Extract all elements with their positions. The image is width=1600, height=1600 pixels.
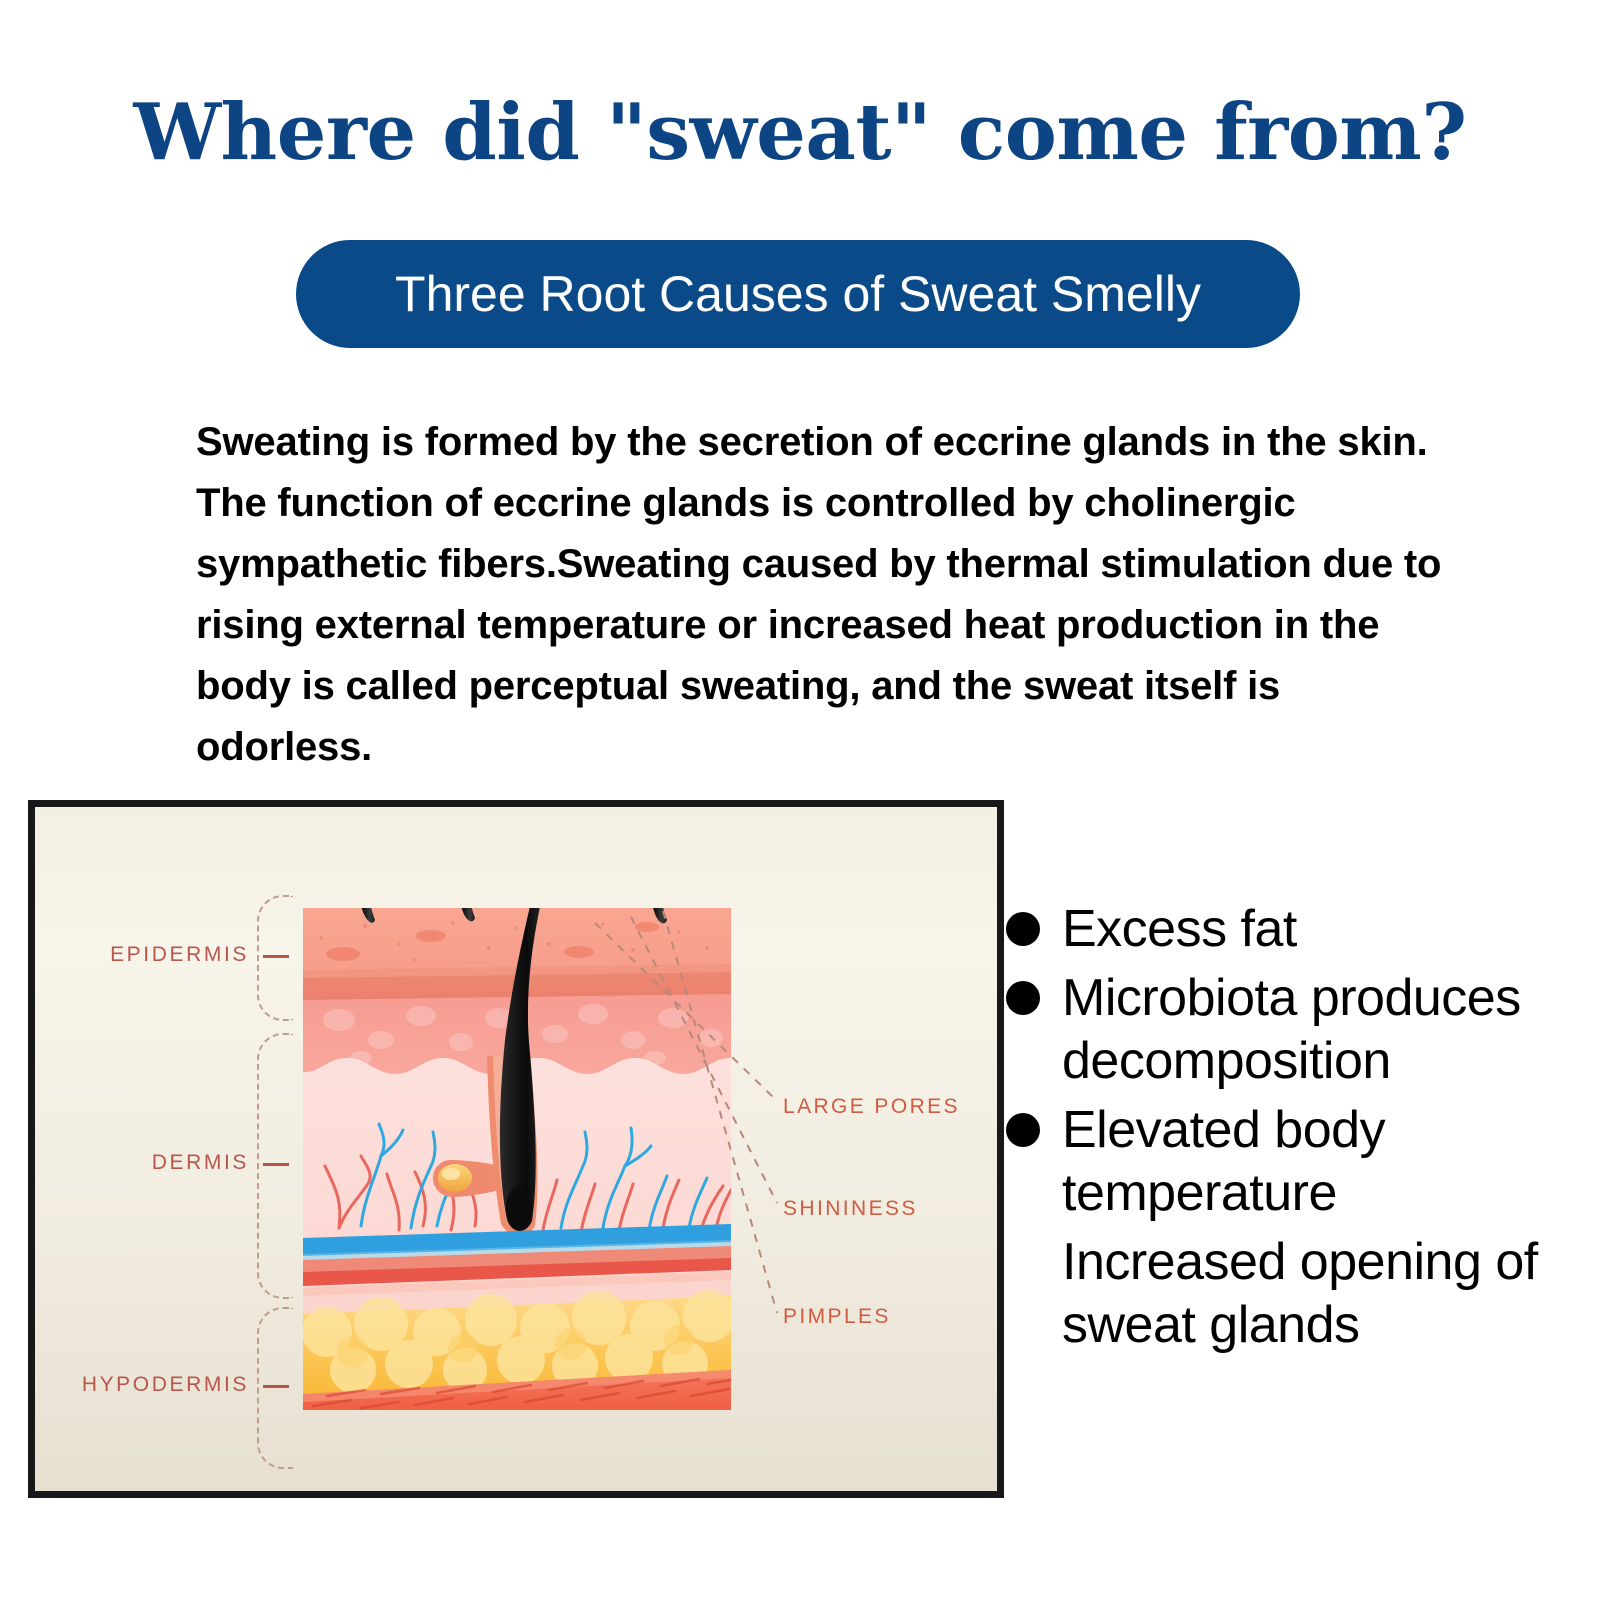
intro-paragraph: Sweating is formed by the secretion of e… (196, 412, 1456, 778)
list-item-label: Microbiota produces decomposition (1062, 967, 1572, 1093)
list-item-label: Elevated body temperature (1062, 1099, 1572, 1225)
callout-label-large-pores: LARGE PORES (783, 1095, 960, 1119)
page-title: Where did "sweat" come from? (0, 88, 1600, 178)
callout-label-pimples: PIMPLES (783, 1305, 891, 1329)
section-banner: Three Root Causes of Sweat Smelly (296, 240, 1300, 348)
banner-label: Three Root Causes of Sweat Smelly (395, 266, 1201, 322)
callout-label-shininess: SHININESS (783, 1197, 918, 1221)
causes-list: Excess fat Microbiota produces decomposi… (1006, 898, 1572, 1357)
causes-trailing-text: Increased opening of sweat glands (1062, 1231, 1572, 1357)
list-item-label: Excess fat (1062, 898, 1297, 961)
bullet-dot-icon (1006, 981, 1040, 1015)
skin-diagram-frame: EPIDERMIS DERMIS HYPODERMIS (28, 800, 1004, 1498)
skin-diagram-inner: EPIDERMIS DERMIS HYPODERMIS (35, 807, 997, 1491)
list-item: Elevated body temperature (1006, 1099, 1572, 1225)
list-item: Microbiota produces decomposition (1006, 967, 1572, 1093)
bullet-dot-icon (1006, 1113, 1040, 1147)
callout-leader-lines (35, 807, 997, 1491)
bullet-dot-icon (1006, 912, 1040, 946)
list-item: Excess fat (1006, 898, 1572, 961)
